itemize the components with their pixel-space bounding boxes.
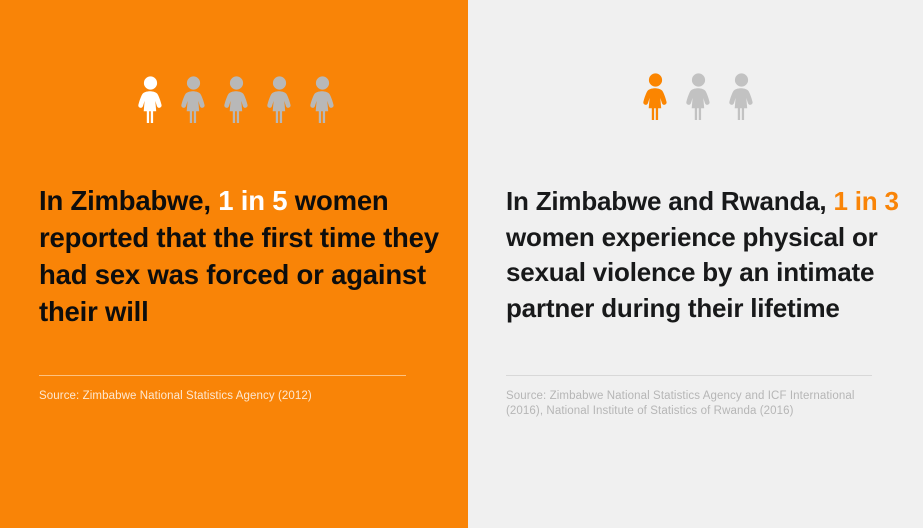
source-block-left: Source: Zimbabwe National Statistics Age… <box>39 375 406 404</box>
source-text-right: Source: Zimbabwe National Statistics Age… <box>506 389 872 418</box>
panel-zimbabwe-rwanda-1-in-3: In Zimbabwe and Rwanda, 1 in 3 women exp… <box>468 0 923 528</box>
panel-zimbabwe-1-in-5: In Zimbabwe, 1 in 5 women reported that … <box>0 0 468 528</box>
person-icon-empty-3 <box>727 73 756 121</box>
source-divider-right <box>506 375 872 376</box>
person-icon-empty-4 <box>265 76 294 124</box>
person-icon-empty-2 <box>179 76 208 124</box>
person-icon-empty-5 <box>308 76 337 124</box>
source-block-right: Source: Zimbabwe National Statistics Age… <box>506 375 872 418</box>
headline-right-statistic: 1 in 3 <box>833 186 898 216</box>
pictogram-1-in-3 <box>641 73 756 121</box>
person-icon-filled-1 <box>136 76 165 124</box>
pictogram-1-in-5 <box>136 76 337 124</box>
person-icon-filled-1 <box>641 73 670 121</box>
person-icon-empty-3 <box>222 76 251 124</box>
source-divider-left <box>39 375 406 376</box>
headline-left-part1: In Zimbabwe, <box>39 185 218 216</box>
headline-right: In Zimbabwe and Rwanda, 1 in 3 women exp… <box>506 184 906 326</box>
headline-right-part1: In Zimbabwe and Rwanda, <box>506 186 833 216</box>
infographic-root: In Zimbabwe, 1 in 5 women reported that … <box>0 0 923 528</box>
headline-left-statistic: 1 in 5 <box>218 185 287 216</box>
person-icon-empty-2 <box>684 73 713 121</box>
source-text-left: Source: Zimbabwe National Statistics Age… <box>39 389 406 404</box>
headline-left: In Zimbabwe, 1 in 5 women reported that … <box>39 182 439 330</box>
headline-right-part2: women experience physical or sexual viol… <box>506 222 878 323</box>
